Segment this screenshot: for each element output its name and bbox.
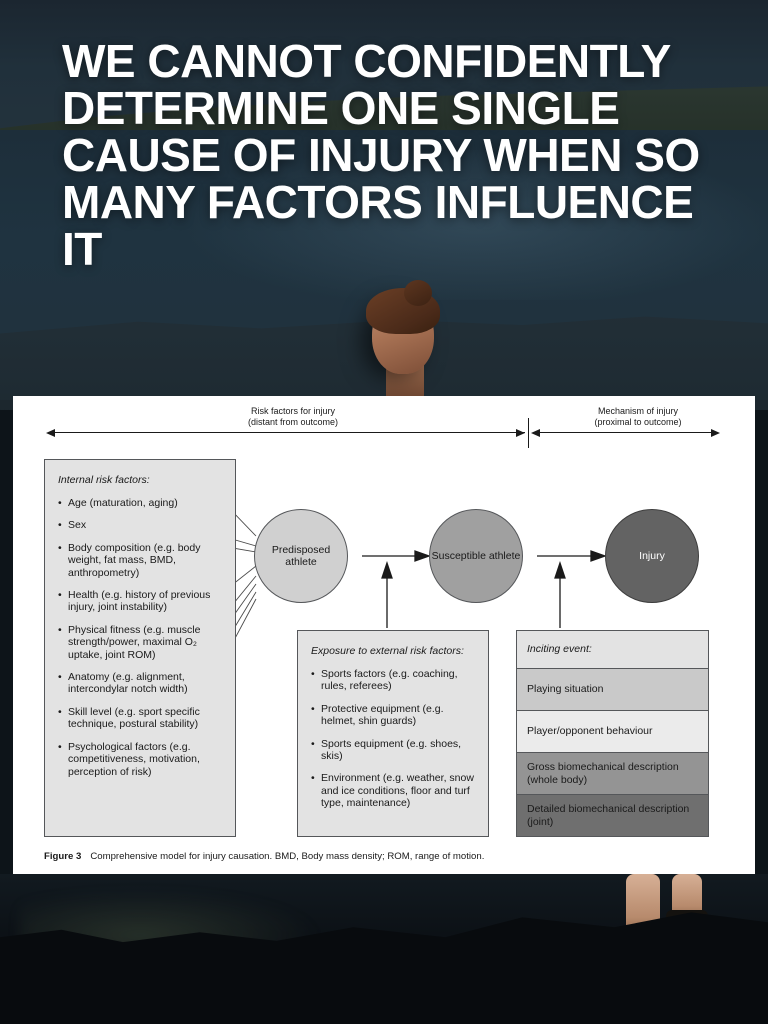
figure-caption-label: Figure 3	[44, 851, 81, 862]
list-item: Protective equipment (e.g. helmet, shin …	[311, 703, 475, 728]
external-risk-factors-panel: Exposure to external risk factors: Sport…	[297, 630, 489, 837]
inciting-event-panel: Inciting event: Playing situation Player…	[516, 630, 709, 837]
list-item: Sports factors (e.g. coaching, rules, re…	[311, 668, 475, 693]
inciting-event-row-playing-situation: Playing situation	[517, 669, 708, 711]
list-item: Environment (e.g. weather, snow and ice …	[311, 772, 475, 809]
internal-risk-factors-list: Age (maturation, aging) Sex Body composi…	[58, 497, 222, 778]
injury-causation-diagram: Risk factors for injury (distant from ou…	[13, 396, 755, 874]
circle-susceptible-athlete-label: Susceptible athlete	[432, 550, 521, 563]
list-item: Health (e.g. history of previous injury,…	[58, 589, 222, 614]
axis-label-risk-factors: Risk factors for injury (distant from ou…	[183, 406, 403, 428]
axis-divider-tick	[528, 418, 529, 448]
list-item: Physical fitness (e.g. muscle strength/p…	[58, 624, 222, 661]
axis-label-risk-factors-line1: Risk factors for injury	[251, 406, 335, 416]
figure-caption-text: Comprehensive model for injury causation…	[90, 851, 484, 862]
axis-label-mechanism-line2: (proximal to outcome)	[594, 417, 681, 427]
figure-caption: Figure 3Comprehensive model for injury c…	[44, 851, 734, 863]
list-item: Skill level (e.g. sport specific techniq…	[58, 706, 222, 731]
external-risk-factors-list: Sports factors (e.g. coaching, rules, re…	[311, 668, 475, 810]
headline-text: WE CANNOT CONFIDENTLY DETERMINE ONE SING…	[62, 38, 722, 273]
list-item: Sports equipment (e.g. shoes, skis)	[311, 738, 475, 763]
circle-injury-label: Injury	[639, 550, 665, 563]
circle-susceptible-athlete: Susceptible athlete	[429, 509, 523, 603]
axis-label-mechanism-line1: Mechanism of injury	[598, 406, 678, 416]
inciting-event-row-player-behaviour: Player/opponent behaviour	[517, 711, 708, 753]
axis-arrowhead-far-left	[46, 429, 55, 437]
list-item: Sex	[58, 519, 222, 531]
circle-predisposed-athlete: Predisposed athlete	[254, 509, 348, 603]
circle-predisposed-athlete-label: Predisposed athlete	[255, 544, 347, 569]
list-item: Body composition (e.g. body weight, fat …	[58, 542, 222, 579]
figure-card: Risk factors for injury (distant from ou…	[13, 396, 755, 874]
inciting-event-title: Inciting event:	[517, 631, 708, 669]
internal-risk-factors-title: Internal risk factors:	[58, 474, 222, 486]
axis-arrowhead-far-right	[711, 429, 720, 437]
axis-arrowhead-mid-left	[516, 429, 525, 437]
list-item: Age (maturation, aging)	[58, 497, 222, 509]
axis-label-mechanism: Mechanism of injury (proximal to outcome…	[528, 406, 748, 428]
inciting-event-row-detailed-biomechanical: Detailed biomechanical description (join…	[517, 795, 708, 836]
list-item: Psychological factors (e.g. competitiven…	[58, 741, 222, 778]
circle-injury: Injury	[605, 509, 699, 603]
runner-hair-bun	[404, 280, 432, 306]
external-risk-factors-title: Exposure to external risk factors:	[311, 645, 475, 657]
inciting-event-row-gross-biomechanical: Gross biomechanical description (whole b…	[517, 753, 708, 795]
axis-line-left	[55, 432, 525, 433]
axis-arrowhead-mid-right	[531, 429, 540, 437]
axis-label-risk-factors-line2: (distant from outcome)	[248, 417, 338, 427]
list-item: Anatomy (e.g. alignment, intercondylar n…	[58, 671, 222, 696]
internal-risk-factors-panel: Internal risk factors: Age (maturation, …	[44, 459, 236, 837]
axis-line-right	[540, 432, 713, 433]
